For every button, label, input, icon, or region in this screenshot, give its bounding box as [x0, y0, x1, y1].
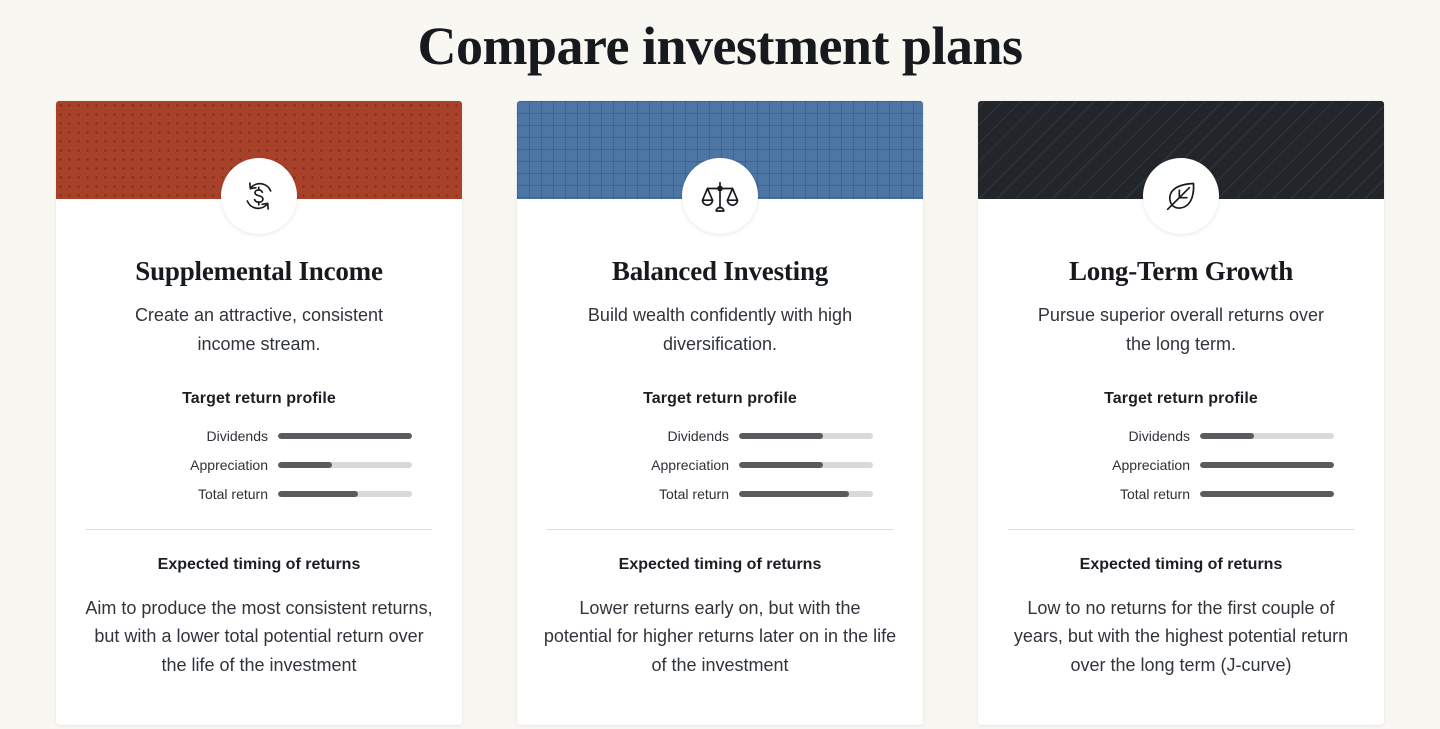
- card-title: Balanced Investing: [547, 255, 893, 287]
- card-description: Pursue superior overall returns over the…: [1008, 301, 1354, 358]
- metric-bar-fill: [739, 491, 849, 497]
- expected-timing-text: Aim to produce the most consistent retur…: [56, 594, 462, 709]
- metric-bar-fill: [278, 491, 358, 497]
- metric-row-appreciation: Appreciation: [1028, 457, 1334, 473]
- metric-label: Total return: [1120, 486, 1190, 502]
- expected-timing-label: Expected timing of returns: [978, 556, 1384, 574]
- card-body: Supplemental Income Create an attractive…: [56, 199, 462, 502]
- card-description: Build wealth confidently with high diver…: [547, 301, 893, 358]
- metric-label: Appreciation: [190, 457, 268, 473]
- metric-bar-track: [278, 462, 412, 468]
- card-title: Supplemental Income: [86, 255, 432, 287]
- card-body: Long-Term Growth Pursue superior overall…: [978, 199, 1384, 502]
- scales-icon: [682, 158, 758, 234]
- metric-bar-track: [739, 433, 873, 439]
- plan-card-balanced-investing[interactable]: Balanced Investing Build wealth confiden…: [517, 101, 923, 725]
- expected-timing-text: Lower returns early on, but with the pot…: [517, 594, 923, 709]
- metric-row-appreciation: Appreciation: [106, 457, 412, 473]
- card-divider: [547, 529, 893, 530]
- metric-label: Total return: [198, 486, 268, 502]
- metric-label: Total return: [659, 486, 729, 502]
- card-divider: [86, 529, 432, 530]
- plan-card-supplemental-income[interactable]: Supplemental Income Create an attractive…: [56, 101, 462, 725]
- card-title: Long-Term Growth: [1008, 255, 1354, 287]
- card-description: Create an attractive, consistent income …: [86, 301, 432, 358]
- metric-row-dividends: Dividends: [106, 428, 412, 444]
- metric-bar-fill: [278, 462, 332, 468]
- metric-label: Appreciation: [1112, 457, 1190, 473]
- page-title: Compare investment plans: [0, 0, 1440, 75]
- card-body: Balanced Investing Build wealth confiden…: [517, 199, 923, 502]
- metric-bar-track: [739, 491, 873, 497]
- metric-bar-fill: [739, 462, 823, 468]
- card-divider: [1008, 529, 1354, 530]
- metric-row-total-return: Total return: [106, 486, 412, 502]
- metric-bar-fill: [278, 433, 412, 439]
- metric-label: Dividends: [207, 428, 268, 444]
- dollar-cycle-icon: [221, 158, 297, 234]
- metric-bar-track: [278, 433, 412, 439]
- leaf-icon: [1143, 158, 1219, 234]
- target-return-bars: Dividends Appreciation Total return: [86, 428, 432, 502]
- metric-row-appreciation: Appreciation: [567, 457, 873, 473]
- metric-bar-track: [739, 462, 873, 468]
- expected-timing-label: Expected timing of returns: [56, 556, 462, 574]
- metric-bar-track: [1200, 433, 1334, 439]
- metric-row-dividends: Dividends: [567, 428, 873, 444]
- metric-bar-fill: [1200, 462, 1334, 468]
- expected-timing-label: Expected timing of returns: [517, 556, 923, 574]
- compare-plans-page: Compare investment plans Supplemental In…: [0, 0, 1440, 729]
- target-return-bars: Dividends Appreciation Total return: [1008, 428, 1354, 502]
- target-return-profile-label: Target return profile: [1008, 390, 1354, 408]
- target-return-bars: Dividends Appreciation Total return: [547, 428, 893, 502]
- metric-label: Dividends: [668, 428, 729, 444]
- plan-card-long-term-growth[interactable]: Long-Term Growth Pursue superior overall…: [978, 101, 1384, 725]
- metric-row-total-return: Total return: [1028, 486, 1334, 502]
- metric-label: Dividends: [1129, 428, 1190, 444]
- target-return-profile-label: Target return profile: [547, 390, 893, 408]
- metric-row-total-return: Total return: [567, 486, 873, 502]
- metric-bar-track: [1200, 462, 1334, 468]
- metric-bar-fill: [739, 433, 823, 439]
- metric-bar-fill: [1200, 491, 1334, 497]
- metric-bar-track: [1200, 491, 1334, 497]
- expected-timing-text: Low to no returns for the first couple o…: [978, 594, 1384, 709]
- target-return-profile-label: Target return profile: [86, 390, 432, 408]
- metric-row-dividends: Dividends: [1028, 428, 1334, 444]
- plan-card-grid: Supplemental Income Create an attractive…: [0, 101, 1440, 725]
- metric-bar-fill: [1200, 433, 1254, 439]
- metric-label: Appreciation: [651, 457, 729, 473]
- metric-bar-track: [278, 491, 412, 497]
